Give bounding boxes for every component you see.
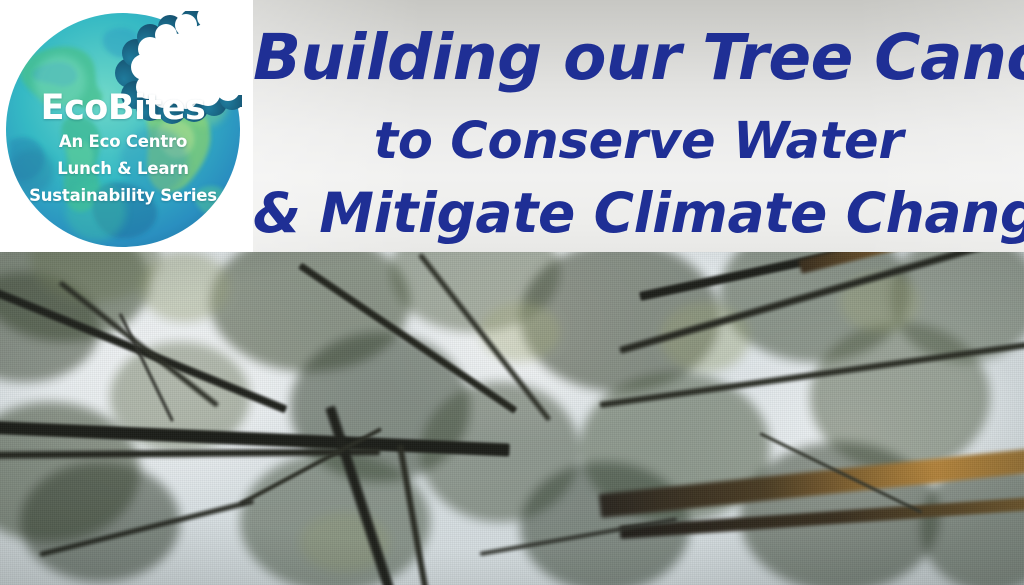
branches-layer bbox=[0, 252, 1024, 585]
title-line-1: Building our Tree Canopy bbox=[253, 26, 1024, 89]
header-band: EcoBites An Eco Centro Lunch & Learn Sus… bbox=[0, 0, 1024, 252]
title-line-2: to Conserve Water bbox=[253, 116, 1024, 167]
poster-root: EcoBites An Eco Centro Lunch & Learn Sus… bbox=[0, 0, 1024, 585]
forest-canopy-photo bbox=[0, 252, 1024, 585]
poster-title: Building our Tree Canopy to Conserve Wat… bbox=[253, 0, 1024, 252]
bitten-globe-icon bbox=[4, 11, 242, 249]
ecobites-logo: EcoBites An Eco Centro Lunch & Learn Sus… bbox=[4, 11, 242, 249]
title-line-3: & Mitigate Climate Change bbox=[253, 186, 1024, 241]
